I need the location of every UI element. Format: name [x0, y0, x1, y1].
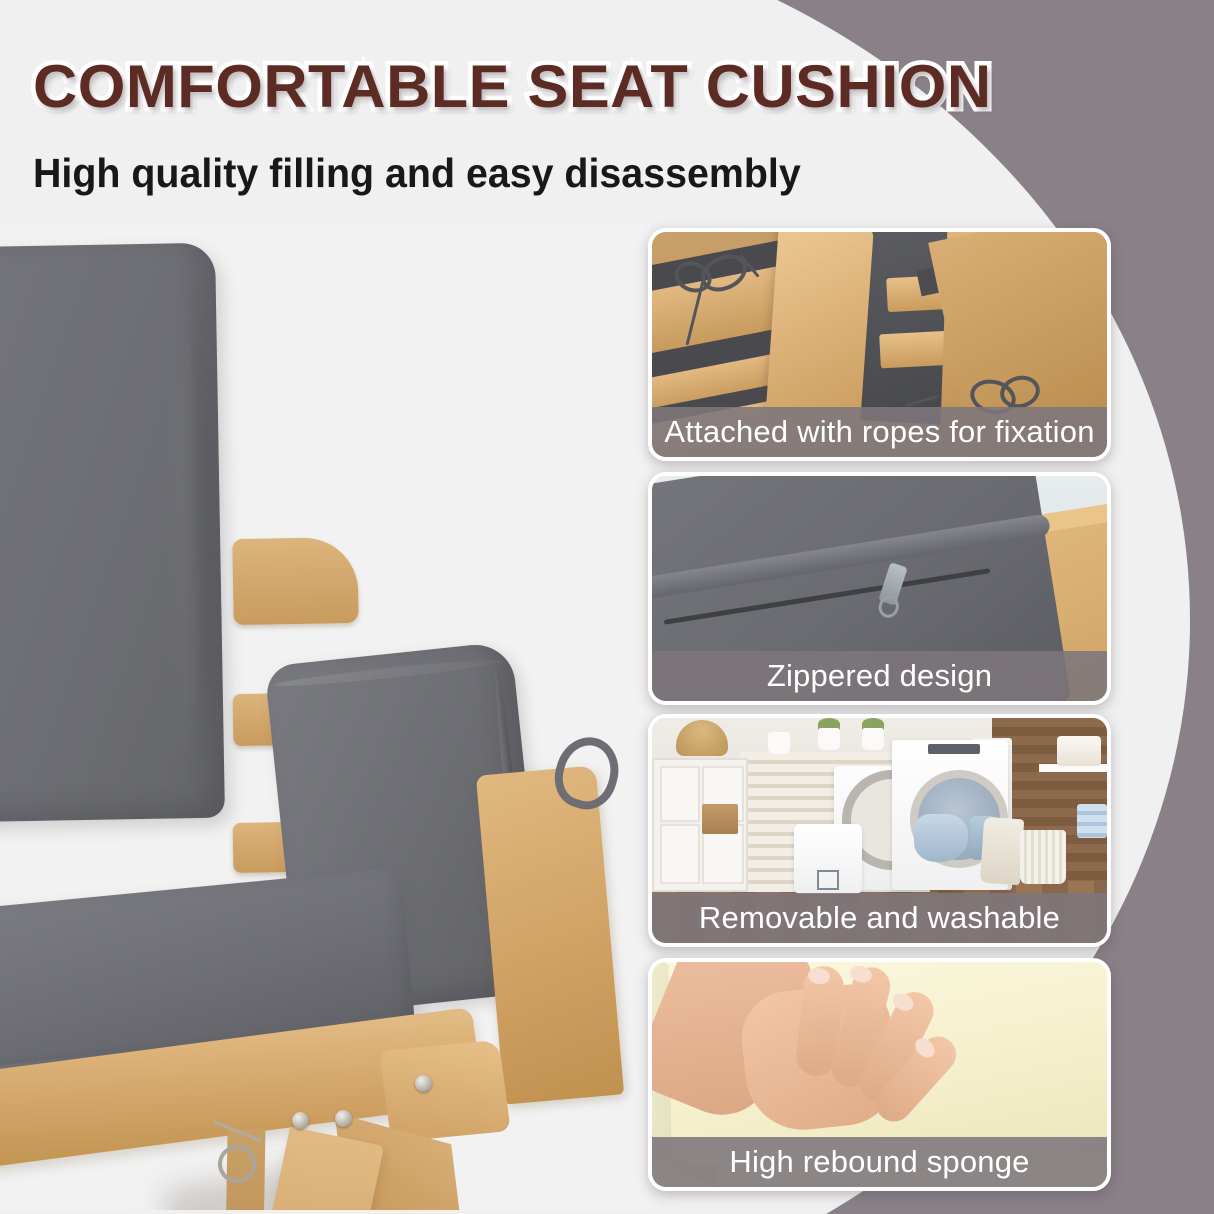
wooden-crate: [702, 804, 738, 834]
house-logo-icon: [817, 870, 839, 890]
shelf-cell: [660, 824, 700, 884]
plant-pot: [862, 728, 884, 750]
panel-caption: Attached with ropes for fixation: [652, 407, 1107, 457]
page-title: COMFORTABLE SEAT CUSHION: [33, 52, 992, 121]
plant-pot: [818, 728, 840, 750]
shelf-cell: [660, 766, 700, 822]
laundry-clothes: [914, 814, 968, 862]
feature-panel-sponge[interactable]: High rebound sponge: [648, 958, 1111, 1191]
panel-caption: High rebound sponge: [652, 1137, 1107, 1187]
screw-icon: [335, 1110, 352, 1127]
laundry-hamper: [1020, 830, 1066, 884]
control-panel: [928, 744, 980, 754]
infographic-canvas: COMFORTABLE SEAT CUSHION High quality fi…: [0, 0, 1214, 1214]
screw-icon: [292, 1112, 309, 1129]
panel-caption: Zippered design: [652, 651, 1107, 701]
header: COMFORTABLE SEAT CUSHION High quality fi…: [0, 0, 1214, 215]
hero-product-photo: [0, 225, 650, 1210]
rail-end-cap: [379, 1040, 511, 1143]
panel-caption: Removable and washable: [652, 893, 1107, 943]
feature-panel-zipper[interactable]: Zippered design: [648, 472, 1111, 705]
feature-panel-ropes[interactable]: Attached with ropes for fixation: [648, 228, 1111, 461]
screw-icon: [415, 1075, 432, 1092]
back-pillow: [0, 243, 225, 823]
folded-towels: [1077, 804, 1107, 838]
plant-pot: [768, 732, 790, 754]
feature-panel-washable[interactable]: Removable and washable: [648, 714, 1111, 947]
shelf-basket: [1057, 736, 1101, 766]
white-towel: [980, 817, 1025, 886]
page-subtitle: High quality filling and easy disassembl…: [33, 150, 801, 197]
wood-armrest: [765, 232, 874, 427]
